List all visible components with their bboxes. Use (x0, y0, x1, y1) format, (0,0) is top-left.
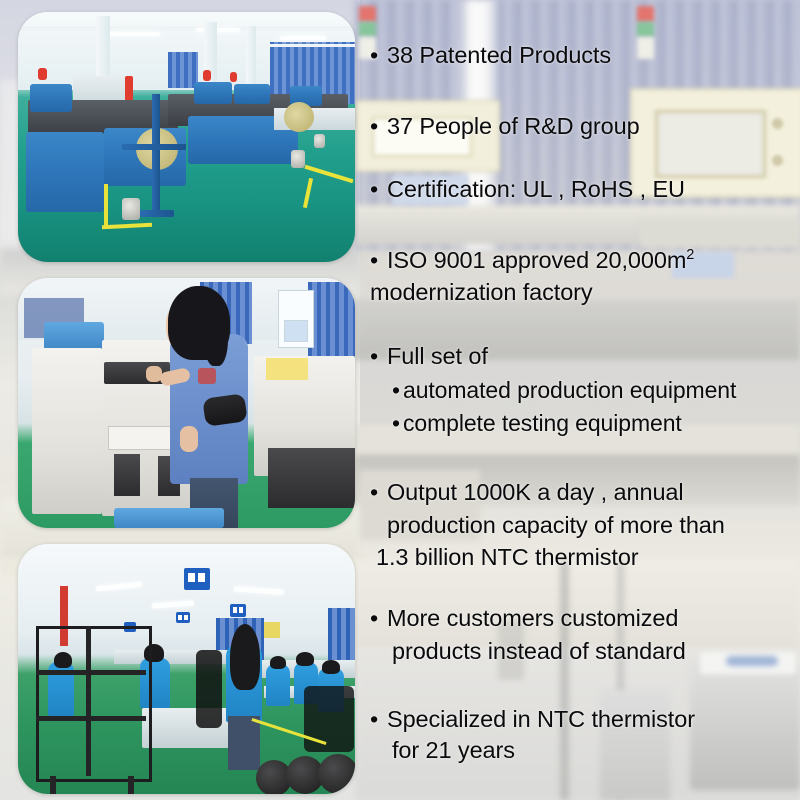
bullet-text: ISO 9001 approved 20,000m (370, 249, 686, 273)
photo-alarm-light (203, 70, 211, 81)
bullet-text: 1.3 billion NTC thermistor (376, 546, 639, 570)
bullet-item: More customers customized (370, 607, 678, 631)
photo-machine (30, 84, 72, 112)
photo-ceiling-beam (18, 26, 355, 31)
photo-factory-production-floor (18, 12, 355, 262)
photo-blue-crate (44, 322, 104, 350)
photo-machine-cabinet (32, 348, 102, 514)
bullet-text-column: 38 Patented Products 37 People of R&D gr… (366, 0, 800, 800)
bullet-continuation: for 21 years (392, 739, 515, 763)
photo-machine (194, 82, 232, 104)
bullet-item: Specialized in NTC thermistor (370, 708, 695, 732)
bullet-text: 38 Patented Products (370, 44, 611, 68)
photo-notice-card (284, 320, 308, 342)
photo-dark-bundle (304, 686, 354, 752)
photo-worker-hair (322, 660, 340, 674)
photo-hanging-sign (230, 604, 246, 617)
photo-hanging-sign (184, 568, 210, 590)
bullet-item: 38 Patented Products (370, 44, 611, 68)
photo-worker-hand (180, 426, 198, 452)
photo-alarm-light (38, 68, 47, 80)
photo-warning-sign (264, 622, 280, 638)
bullet-text: Full set of (370, 345, 488, 369)
bullet-item: Full set of (370, 345, 488, 369)
photo-rack-leg (128, 776, 134, 794)
superscript-unit: 2 (686, 247, 694, 263)
photo-uniform-logo (198, 368, 216, 384)
photo-worker-hair (230, 624, 260, 690)
bullet-text: 37 People of R&D group (370, 115, 640, 139)
photo-wire-spool-small (122, 198, 140, 220)
bullet-text: complete testing equipment (392, 412, 682, 435)
photo-hanging-sign (176, 612, 190, 623)
photo-wire-spool (284, 102, 314, 132)
photo-rack-shelf (36, 670, 146, 675)
photo-worker (266, 664, 290, 706)
photo-support-post (152, 94, 160, 216)
photo-dark-bundle (196, 650, 222, 728)
photo-cable-reel (318, 754, 355, 794)
bullet-sub-item: automated production equipment (392, 379, 736, 402)
photo-machine-base (268, 448, 355, 508)
photo-wire-spool-small (291, 150, 305, 168)
bullet-item: Output 1000K a day , annual (370, 481, 684, 505)
bullet-text: products instead of standard (392, 640, 686, 664)
bullet-text: for 21 years (392, 739, 515, 763)
photo-worker-jeans (228, 716, 260, 770)
photo-rack-post (86, 626, 91, 776)
bullet-text: Output 1000K a day , annual (370, 481, 684, 505)
photo-ceiling-light (280, 36, 326, 40)
bullet-text: More customers customized (370, 607, 678, 631)
photo-ceiling-light (108, 32, 160, 36)
photo-worker-ponytail (204, 300, 228, 366)
photo-ceiling-light (196, 28, 240, 32)
bullet-item: Certification: UL , RoHS , EU (370, 178, 685, 202)
bullet-continuation: 1.3 billion NTC thermistor (376, 546, 639, 570)
slide-canvas: 38 Patented Products 37 People of R&D gr… (0, 0, 800, 800)
photo-rack-shelf (36, 716, 146, 721)
bullet-item: 37 People of R&D group (370, 115, 640, 139)
bullet-text: automated production equipment (392, 379, 736, 402)
photo-rack-leg (50, 776, 56, 794)
photo-worker-hair (270, 656, 286, 669)
bullet-continuation: production capacity of more than (387, 514, 725, 538)
bullet-sub-item: complete testing equipment (392, 412, 682, 435)
photo-post-base (140, 210, 174, 217)
photo-machine-part (114, 454, 140, 496)
photo-blue-crate (114, 508, 224, 528)
bullet-text: modernization factory (370, 281, 593, 305)
bullet-continuation: products instead of standard (392, 640, 686, 664)
bullet-item: ISO 9001 approved 20,000m2 (370, 249, 694, 273)
photo-machine (26, 132, 104, 212)
bullet-text: production capacity of more than (387, 514, 725, 538)
photo-wire-spool-small (314, 134, 325, 148)
photo-floor-marking (104, 184, 108, 226)
photo-ceiling-beam (18, 44, 355, 47)
photo-worker-hair (296, 652, 314, 666)
photo-cross-arm (122, 144, 186, 150)
bullet-text: Specialized in NTC thermistor (370, 708, 695, 732)
bullet-text: Certification: UL , RoHS , EU (370, 178, 685, 202)
photo-control-panel (266, 358, 308, 380)
photo-worker-operating-machine (18, 278, 355, 528)
bullet-continuation: modernization factory (370, 281, 593, 305)
photo-alarm-light (230, 72, 237, 82)
photo-machine (234, 84, 270, 104)
photo-assembly-line-workers (18, 544, 355, 794)
photo-metal-rack (36, 626, 152, 782)
